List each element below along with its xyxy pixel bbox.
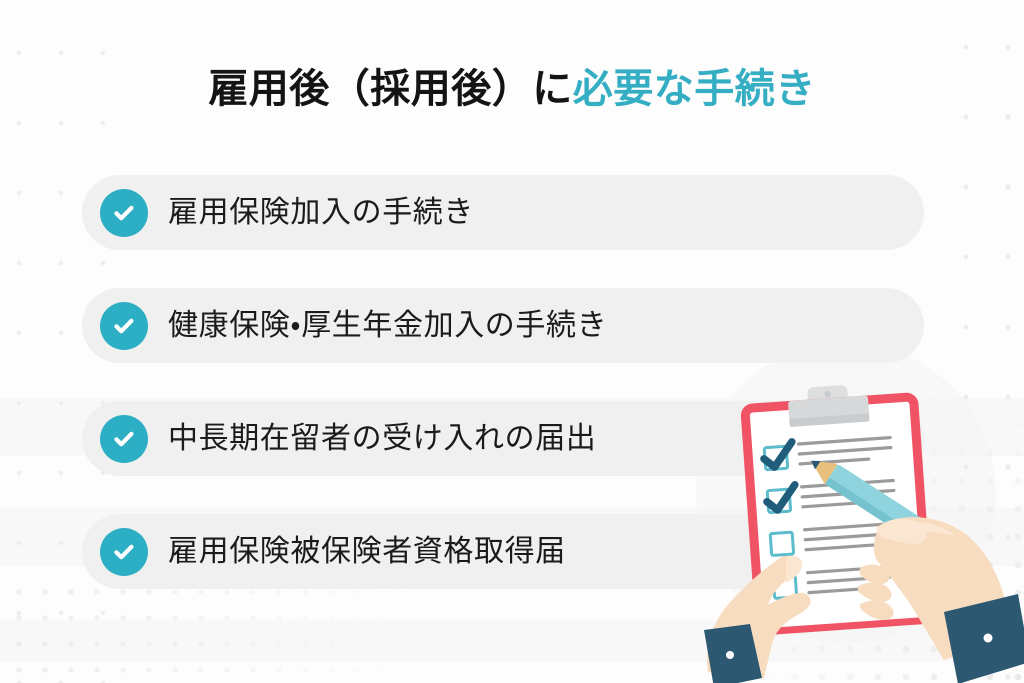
check-circle-icon [100,302,148,350]
checklist-item[interactable]: 健康保険・厚生年金加入の手続き [82,288,924,363]
check-circle-icon [100,528,148,576]
checklist-item-label: 雇用保険加入の手続き [168,198,474,228]
check-circle-icon [100,415,148,463]
checklist-item[interactable]: 雇用保険被保険者資格取得届 [82,514,924,589]
infographic-canvas: 雇用後（採用後）に必要な手続き 雇用保険加入の手続き 健康保険・厚生年金加入の手… [0,0,1024,683]
checklist-item-label: 中長期在留者の受け入れの届出 [168,424,596,454]
page-title: 雇用後（採用後）に必要な手続き [0,64,1024,114]
checklist-item-label: 健康保険・厚生年金加入の手続き [168,311,607,341]
check-circle-icon [100,189,148,237]
page-title-dark-part: 雇用後（採用後）に [208,67,573,111]
checklist-item-label: 雇用保険被保険者資格取得届 [168,537,566,567]
checklist-item[interactable]: 中長期在留者の受け入れの届出 [82,401,924,476]
checklist-item[interactable]: 雇用保険加入の手続き [82,175,924,250]
page-title-accent-part: 必要な手続き [573,67,816,111]
checklist: 雇用保険加入の手続き 健康保険・厚生年金加入の手続き 中長期在留者の受け入れの届… [82,175,924,589]
